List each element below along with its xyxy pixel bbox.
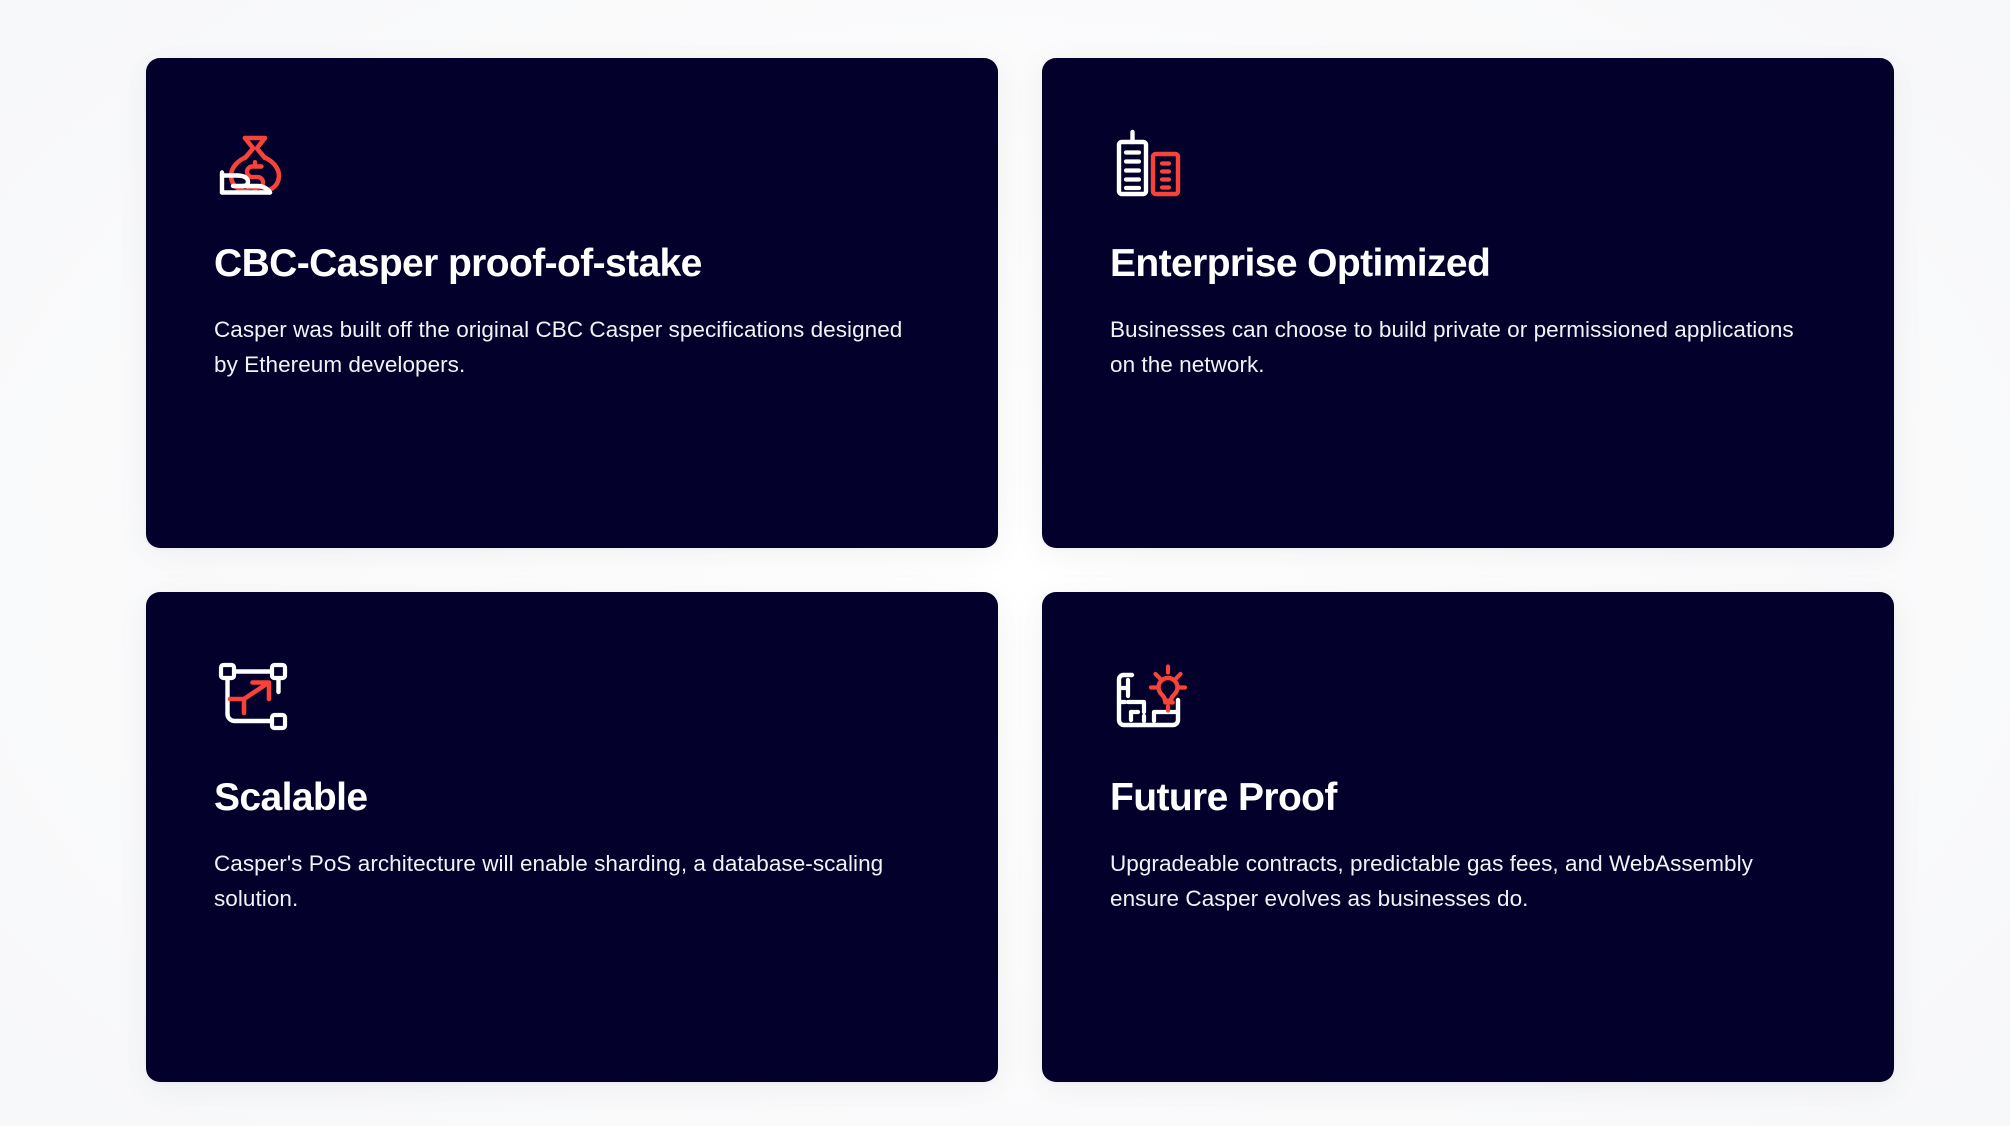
feature-card-description: Casper's PoS architecture will enable sh… [214, 846, 904, 917]
feature-card-scalable[interactable]: Scalable Casper's PoS architecture will … [146, 592, 998, 1082]
office-buildings-icon [1110, 124, 1188, 202]
feature-card-description: Casper was built off the original CBC Ca… [214, 312, 904, 383]
features-section: CBC-Casper proof-of-stake Casper was bui… [0, 0, 2010, 1126]
feature-card-description: Upgradeable contracts, predictable gas f… [1110, 846, 1800, 917]
scale-expand-arrow-icon [214, 658, 292, 736]
feature-card-title: CBC-Casper proof-of-stake [214, 242, 930, 286]
feature-card-title: Scalable [214, 776, 930, 820]
feature-card-enterprise-optimized[interactable]: Enterprise Optimized Businesses can choo… [1042, 58, 1894, 548]
money-bag-icon [214, 124, 292, 202]
feature-card-grid: CBC-Casper proof-of-stake Casper was bui… [146, 58, 1874, 1082]
feature-card-title: Future Proof [1110, 776, 1826, 820]
lightbulb-circuit-icon [1110, 658, 1188, 736]
feature-card-future-proof[interactable]: Future Proof Upgradeable contracts, pred… [1042, 592, 1894, 1082]
feature-card-description: Businesses can choose to build private o… [1110, 312, 1800, 383]
feature-card-title: Enterprise Optimized [1110, 242, 1826, 286]
feature-card-cbc-casper[interactable]: CBC-Casper proof-of-stake Casper was bui… [146, 58, 998, 548]
